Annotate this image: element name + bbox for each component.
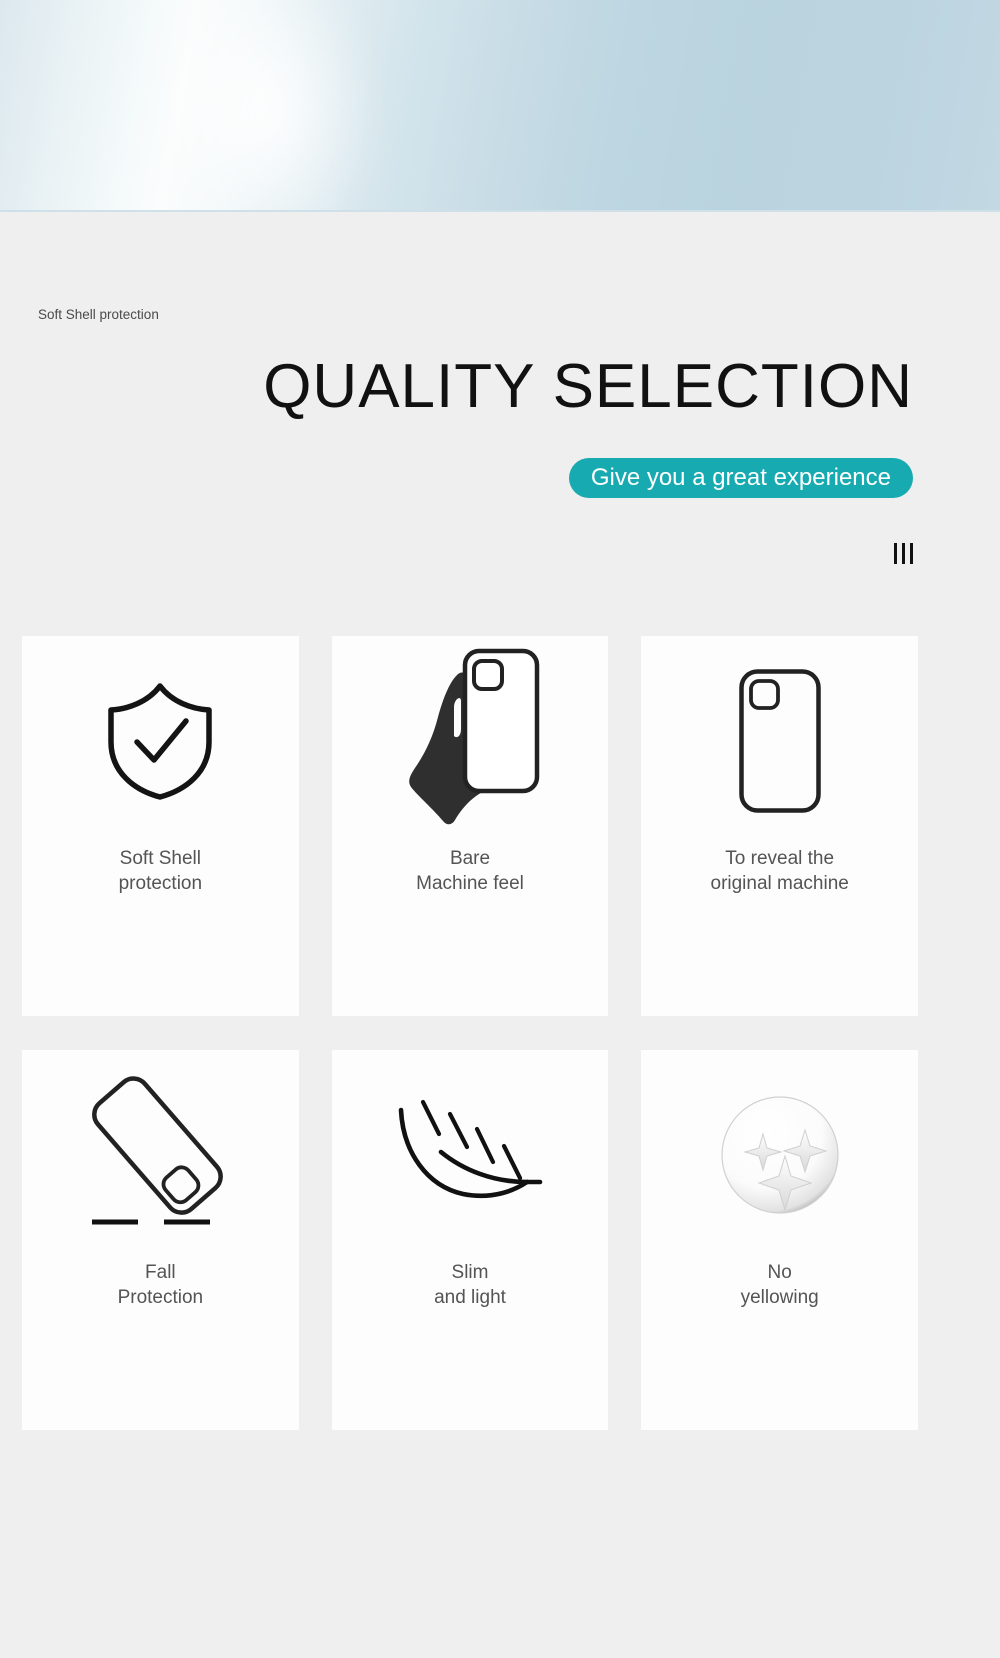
feature-card[interactable]: Soft Shell protection xyxy=(22,636,299,1016)
card-label: Bare Machine feel xyxy=(408,846,532,896)
heading-section: Soft Shell protection QUALITY SELECTION … xyxy=(0,212,1000,636)
feature-card[interactable]: To reveal the original machine xyxy=(641,636,918,1016)
hero-banner xyxy=(0,0,1000,212)
feature-card[interactable]: Bare Machine feel xyxy=(332,636,609,1016)
card-label: Soft Shell protection xyxy=(111,846,210,896)
card-icon-wrap xyxy=(641,636,918,846)
feature-row-top: Soft Shell protection xyxy=(22,636,918,1016)
feature-row-bottom: Fall Protection Slim and light xyxy=(22,1050,918,1430)
feather-icon xyxy=(397,1098,543,1212)
card-icon-wrap xyxy=(641,1050,918,1260)
card-icon-wrap xyxy=(332,1050,609,1260)
page-title: QUALITY SELECTION xyxy=(0,352,913,422)
bar-mark-2 xyxy=(902,543,905,564)
hand-holding-phone-icon xyxy=(395,641,545,841)
card-label: Slim and light xyxy=(426,1260,514,1310)
banner-blurred-headline xyxy=(95,103,252,134)
three-bars-mark xyxy=(894,542,913,564)
kicker-text: Soft Shell protection xyxy=(38,304,168,325)
sparkle-sphere-icon xyxy=(719,1094,841,1216)
card-label: Fall Protection xyxy=(110,1260,212,1310)
feature-card-grid: Soft Shell protection xyxy=(22,636,918,1464)
shield-check-icon xyxy=(104,680,216,802)
card-label: No yellowing xyxy=(733,1260,827,1310)
feature-card[interactable]: Slim and light xyxy=(332,1050,609,1430)
phone-drop-icon xyxy=(82,1075,238,1235)
phone-back-outline-icon xyxy=(738,668,822,814)
card-icon-wrap xyxy=(22,1050,299,1260)
feature-card[interactable]: No yellowing xyxy=(641,1050,918,1430)
card-icon-wrap xyxy=(22,636,299,846)
card-label: To reveal the original machine xyxy=(703,846,857,896)
tagline-badge: Give you a great experience xyxy=(569,458,913,498)
bar-mark-3 xyxy=(910,543,913,564)
feature-card[interactable]: Fall Protection xyxy=(22,1050,299,1430)
banner-blurred-subtext xyxy=(505,18,558,41)
card-icon-wrap xyxy=(332,636,609,846)
bar-mark-1 xyxy=(894,543,897,564)
